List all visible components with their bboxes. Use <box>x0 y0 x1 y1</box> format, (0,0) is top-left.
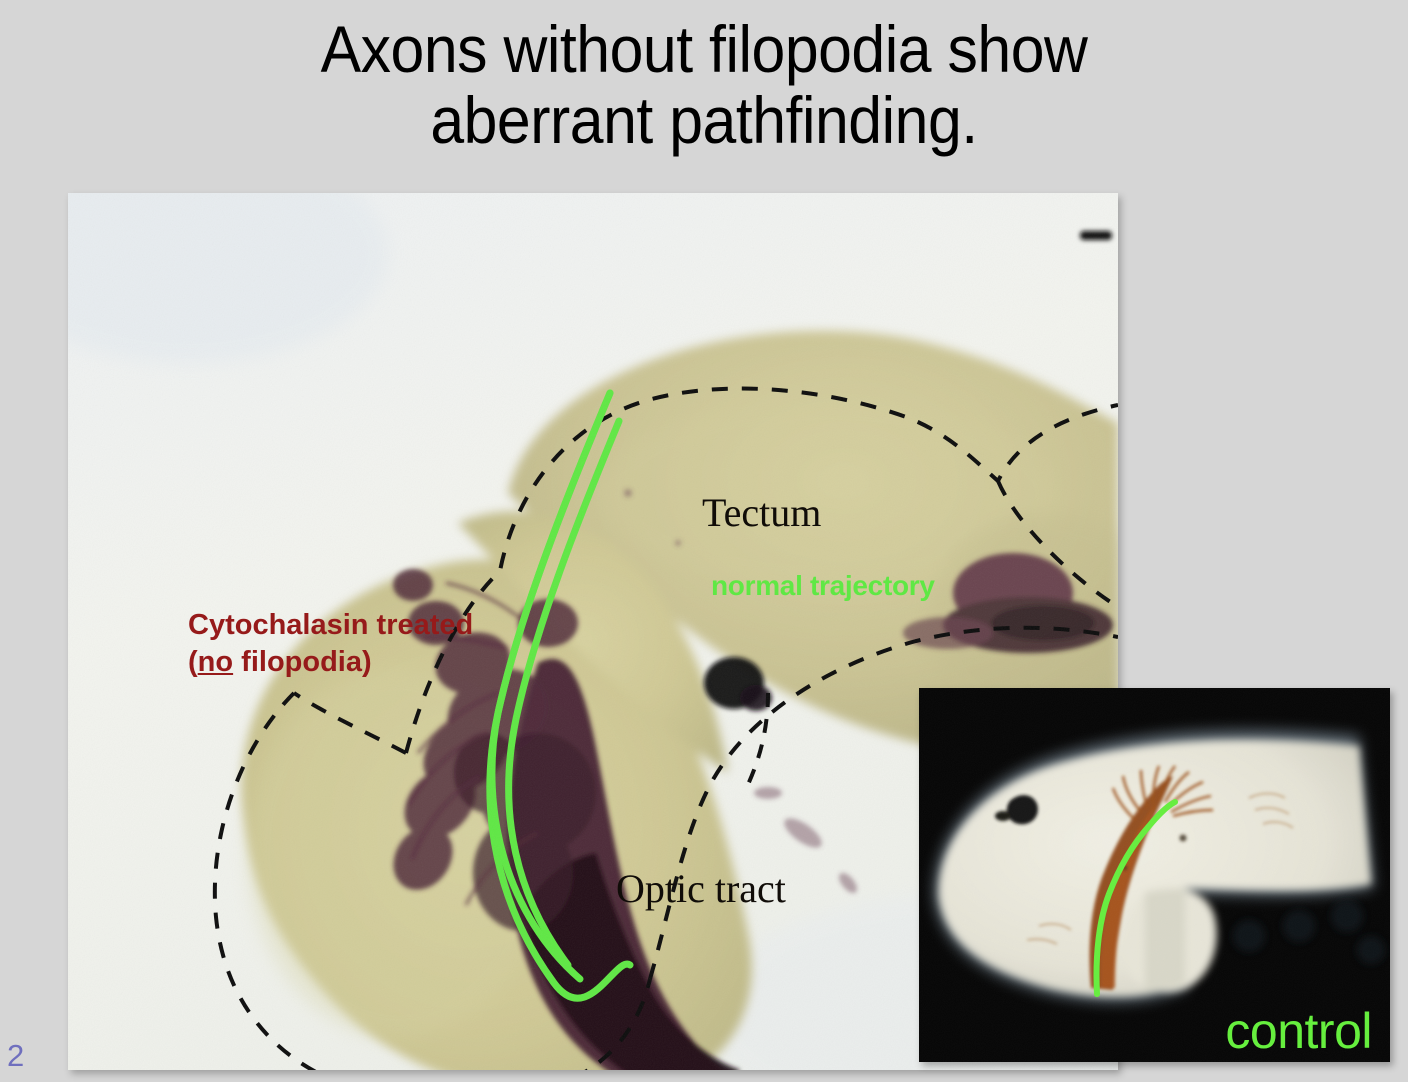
control-label: control <box>1225 1002 1372 1060</box>
normal-trajectory-label: normal trajectory <box>711 570 935 602</box>
treatment-line-1: Cytochalasin treated <box>188 609 473 641</box>
page-title: Axons without filopodia show aberrant pa… <box>56 14 1351 157</box>
tectum-label: Tectum <box>702 489 821 536</box>
treatment-paren-open: ( <box>188 646 198 678</box>
cytochalasin-treated-label: Cytochalasin treated(no filopodia) <box>188 607 473 681</box>
treatment-line-2-rest: filopodia) <box>233 646 372 678</box>
control-inset-panel: control <box>919 688 1390 1062</box>
page-number: 2 <box>7 1038 24 1074</box>
optic-tract-label: Optic tract <box>616 865 786 912</box>
treatment-no-underlined: no <box>198 646 233 678</box>
